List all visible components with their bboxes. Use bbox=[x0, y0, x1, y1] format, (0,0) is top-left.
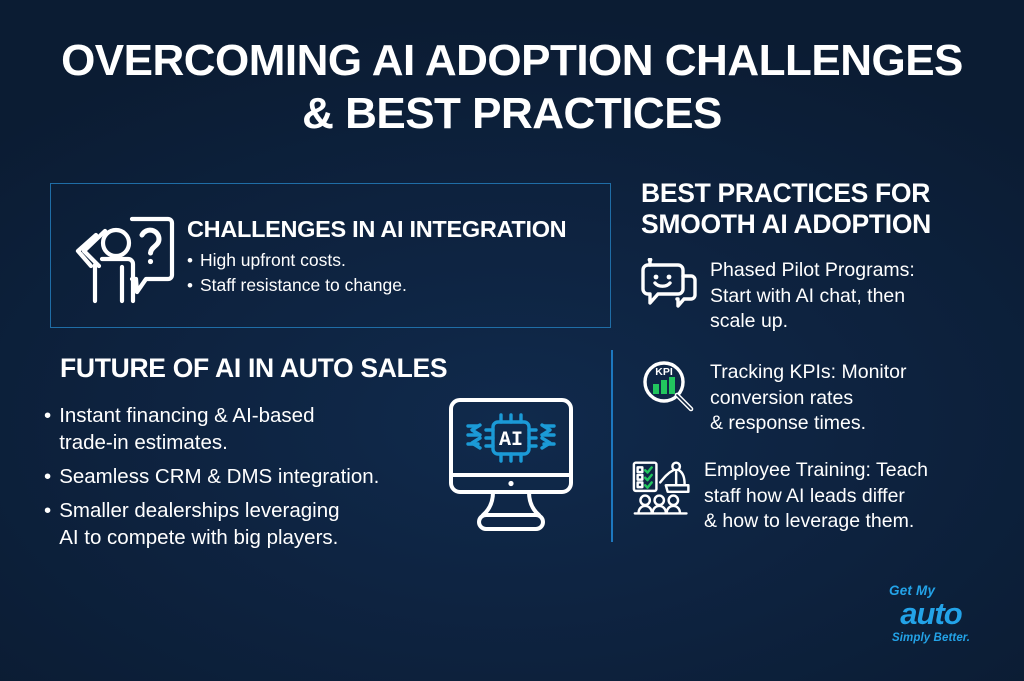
kpi-magnifier-icon: KPI bbox=[638, 360, 700, 416]
bullet-icon: • bbox=[187, 248, 193, 273]
best-practices-heading: BEST PRACTICES FORSMOOTH AI ADOPTION bbox=[641, 178, 1001, 240]
bullet-icon: • bbox=[44, 497, 51, 524]
challenges-item-text: High upfront costs. bbox=[200, 248, 346, 273]
future-item-text: Smaller dealerships leveragingAI to comp… bbox=[59, 497, 444, 551]
title-line-1: OVERCOMING AI ADOPTION CHALLENGES bbox=[61, 36, 963, 85]
list-item: • Seamless CRM & DMS integration. bbox=[44, 463, 444, 490]
future-item-text: Instant financing & AI-basedtrade-in est… bbox=[59, 402, 444, 456]
training-presentation-icon bbox=[632, 458, 694, 520]
best-practice-text: Phased Pilot Programs:Start with AI chat… bbox=[700, 258, 998, 335]
challenges-item-text: Staff resistance to change. bbox=[200, 273, 407, 298]
bullet-icon: • bbox=[44, 402, 51, 429]
ai-chip-monitor-illustration: AI bbox=[446, 395, 576, 540]
best-practice-item: Phased Pilot Programs:Start with AI chat… bbox=[638, 258, 998, 335]
page-title: OVERCOMING AI ADOPTION CHALLENGES & BEST… bbox=[0, 34, 1024, 140]
best-practice-text: Tracking KPIs: Monitorconversion rates& … bbox=[700, 360, 998, 437]
best-practice-item: KPI Tracking KPIs: Monitorconversion rat… bbox=[638, 360, 998, 437]
list-item: • Instant financing & AI-basedtrade-in e… bbox=[44, 402, 444, 456]
best-practice-text: Employee Training: Teachstaff how AI lea… bbox=[694, 458, 1004, 535]
best-practice-item: Employee Training: Teachstaff how AI lea… bbox=[632, 458, 1004, 535]
title-line-2: & BEST PRACTICES bbox=[0, 87, 1024, 140]
challenges-list-item: • Staff resistance to change. bbox=[187, 273, 604, 298]
challenges-box: CHALLENGES IN AI INTEGRATION • High upfr… bbox=[50, 183, 611, 328]
vertical-divider bbox=[611, 350, 613, 542]
chatbot-speech-bubble-icon bbox=[638, 258, 700, 312]
person-question-speech-bubble-icon bbox=[65, 209, 183, 305]
infographic-poster: OVERCOMING AI ADOPTION CHALLENGES & BEST… bbox=[0, 0, 1024, 681]
future-heading: FUTURE OF AI IN AUTO SALES bbox=[60, 352, 447, 384]
future-list: • Instant financing & AI-basedtrade-in e… bbox=[44, 402, 444, 558]
brand-logo: Get My auto Simply Better. bbox=[877, 583, 985, 645]
chip-label: AI bbox=[499, 429, 523, 452]
list-item: • Smaller dealerships leveragingAI to co… bbox=[44, 497, 444, 551]
logo-auto-text: auto bbox=[900, 598, 961, 629]
bullet-icon: • bbox=[44, 463, 51, 490]
logo-tagline: Simply Better. bbox=[877, 631, 985, 645]
logo-auto-wrap: auto bbox=[877, 598, 985, 629]
challenges-heading: CHALLENGES IN AI INTEGRATION bbox=[187, 215, 604, 243]
challenges-text-block: CHALLENGES IN AI INTEGRATION • High upfr… bbox=[183, 215, 612, 298]
challenges-list-item: • High upfront costs. bbox=[187, 248, 604, 273]
bullet-icon: • bbox=[187, 273, 193, 298]
kpi-icon-label: KPI bbox=[655, 366, 673, 378]
future-item-text: Seamless CRM & DMS integration. bbox=[59, 463, 444, 490]
